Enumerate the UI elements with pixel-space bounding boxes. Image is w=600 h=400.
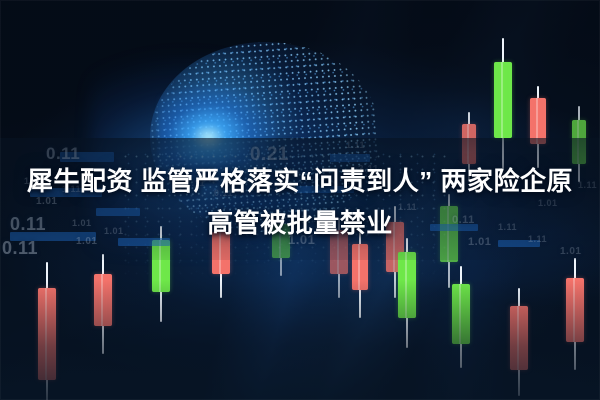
- image-frame: [0, 0, 600, 400]
- banner-image: 0.111.011.111.010.111.010.111.011.010.11…: [0, 0, 600, 400]
